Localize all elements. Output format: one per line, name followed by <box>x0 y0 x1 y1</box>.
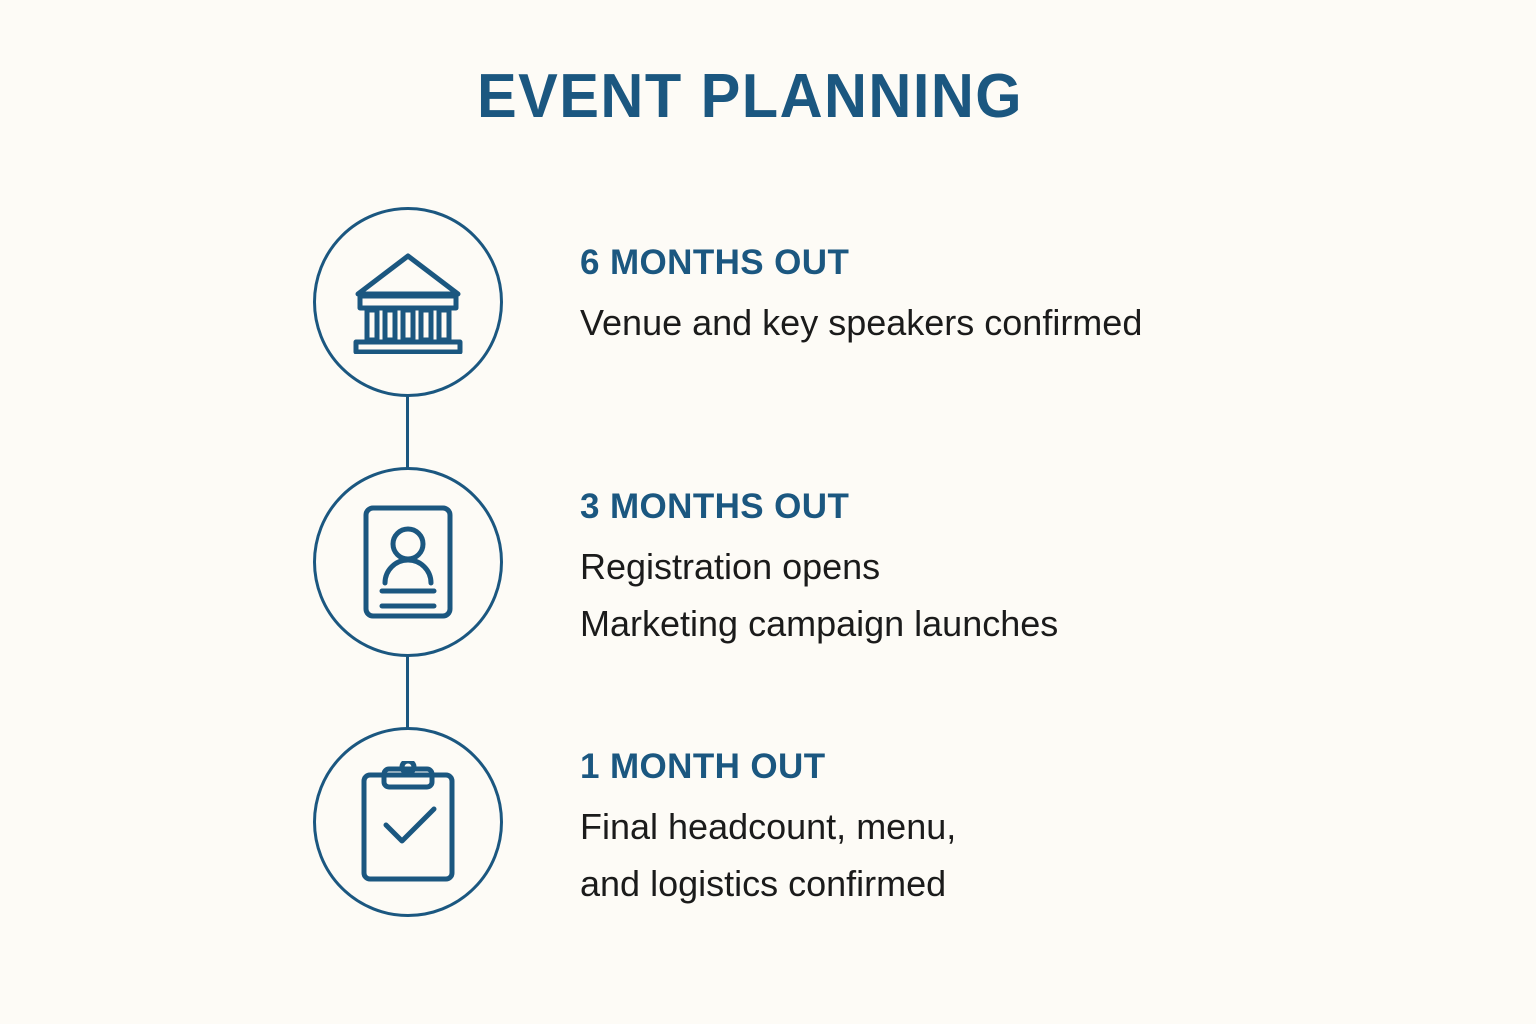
timeline-connector-1 <box>406 396 409 470</box>
timeline-step-2-description: Registration opens Marketing campaign la… <box>580 538 1460 652</box>
timeline-step-3-heading: 1 MONTH OUT <box>580 749 1460 786</box>
timeline-step-2-line-2: Marketing campaign launches <box>580 595 1460 652</box>
clipboard-check-icon <box>358 761 458 883</box>
timeline-node-1[interactable] <box>313 207 503 397</box>
id-badge-icon <box>362 504 454 620</box>
timeline-connector-2 <box>406 656 409 730</box>
timeline-step-1-description: Venue and key speakers confirmed <box>580 294 1460 351</box>
timeline-step-1-line-1: Venue and key speakers confirmed <box>580 294 1460 351</box>
timeline-step-3-line-1: Final headcount, menu, <box>580 798 1460 855</box>
timeline-step-3-text: 1 MONTH OUT Final headcount, menu, and l… <box>580 749 1460 912</box>
event-planning-infographic: EVENT PLANNING <box>0 0 1536 1024</box>
timeline-step-3-description: Final headcount, menu, and logistics con… <box>580 798 1460 912</box>
timeline: 6 MONTHS OUT Venue and key speakers conf… <box>0 0 1536 1024</box>
timeline-step-3-line-2: and logistics confirmed <box>580 855 1460 912</box>
timeline-step-2-heading: 3 MONTHS OUT <box>580 489 1460 526</box>
timeline-step-2-line-1: Registration opens <box>580 538 1460 595</box>
timeline-step-1-heading: 6 MONTHS OUT <box>580 245 1460 282</box>
classical-building-icon <box>352 250 464 354</box>
timeline-step-2-text: 3 MONTHS OUT Registration opens Marketin… <box>580 489 1460 652</box>
timeline-step-1: 6 MONTHS OUT Venue and key speakers conf… <box>0 207 1536 397</box>
timeline-node-3[interactable] <box>313 727 503 917</box>
timeline-node-2[interactable] <box>313 467 503 657</box>
timeline-step-3: 1 MONTH OUT Final headcount, menu, and l… <box>0 727 1536 917</box>
timeline-step-1-text: 6 MONTHS OUT Venue and key speakers conf… <box>580 245 1460 351</box>
timeline-step-2: 3 MONTHS OUT Registration opens Marketin… <box>0 467 1536 657</box>
